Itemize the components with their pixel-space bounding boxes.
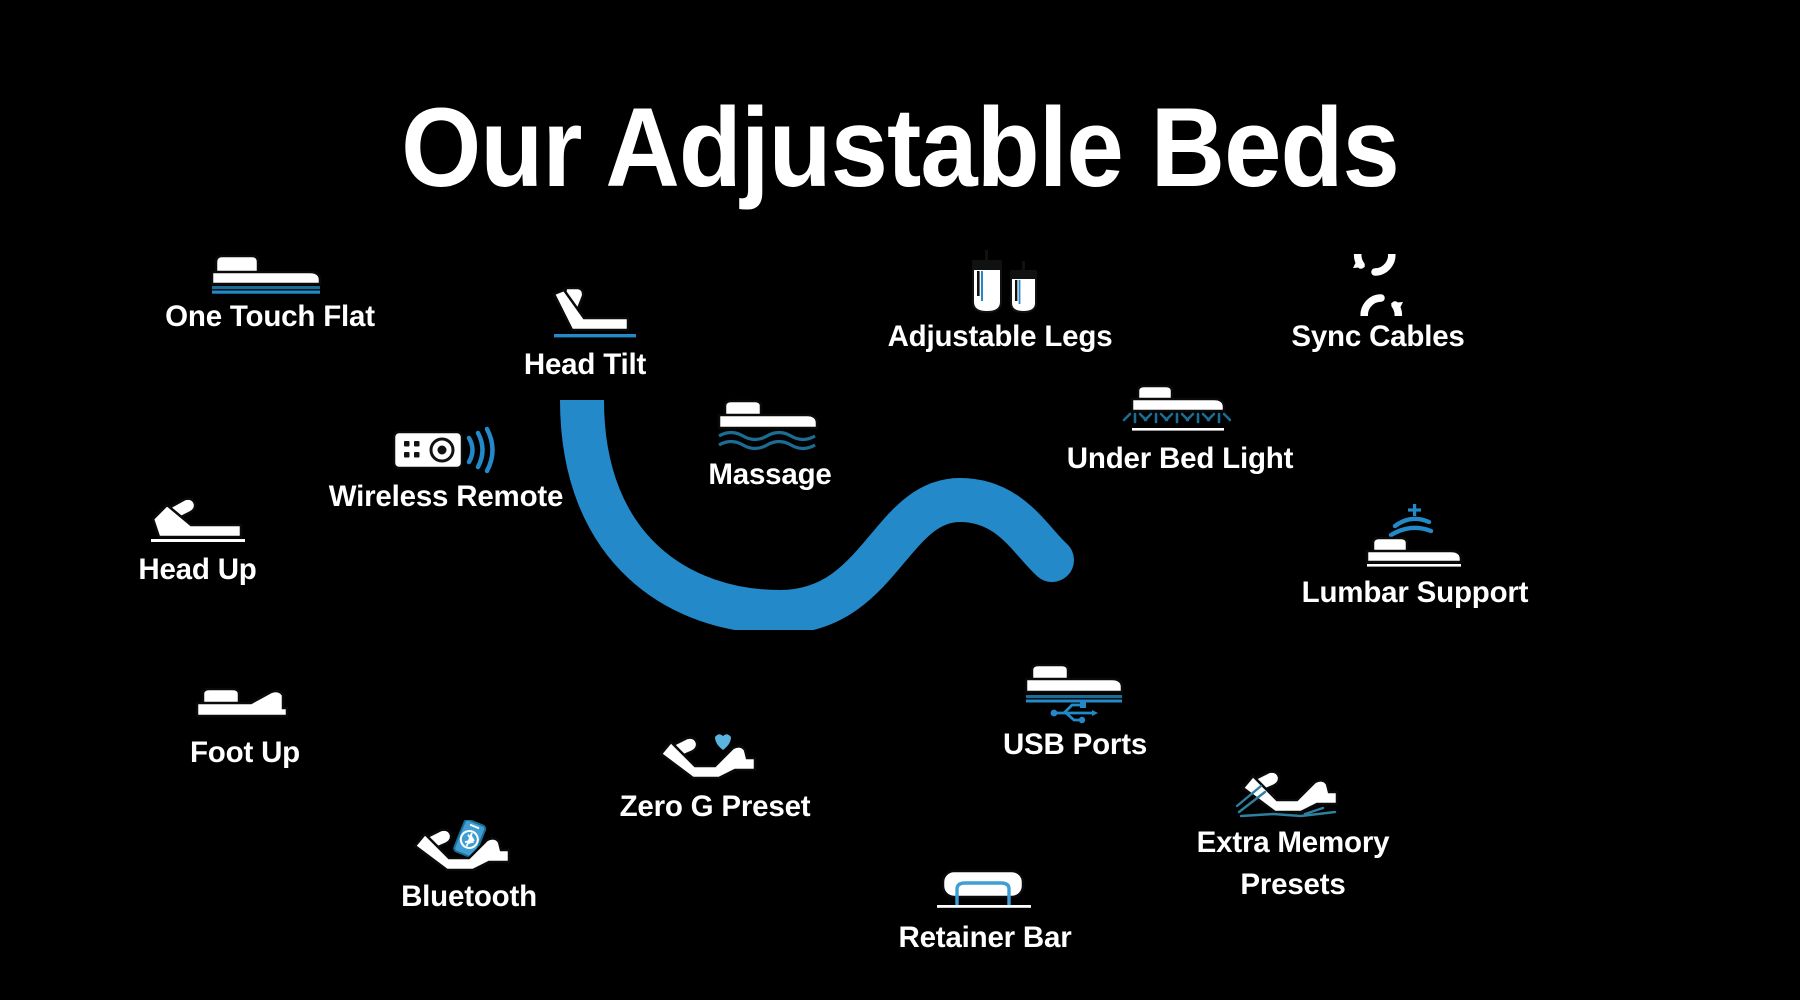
feature-label: Zero G Preset — [600, 786, 830, 828]
feature-label: Head Tilt — [470, 344, 700, 386]
feature-label: Retainer Bar — [870, 917, 1100, 959]
bed-usb-icon — [960, 660, 1190, 724]
feature-usb-ports[interactable]: USB Ports — [960, 660, 1190, 766]
retainer-bar-icon — [870, 865, 1100, 917]
feature-label: USB Ports — [960, 724, 1190, 766]
bed-head-up-icon — [90, 487, 305, 549]
feature-head-tilt[interactable]: Head Tilt — [470, 282, 700, 386]
feature-adjustable-legs[interactable]: Adjustable Legs — [880, 250, 1120, 358]
feature-label: Under Bed Light — [1055, 438, 1305, 480]
feature-label: Bluetooth — [358, 876, 580, 918]
bed-bluetooth-phone-icon — [358, 818, 580, 876]
feature-wireless-remote[interactable]: Wireless Remote — [326, 418, 566, 518]
sync-cables-icon — [1258, 248, 1498, 316]
bed-flat-icon — [150, 238, 390, 296]
bed-massage-waves-icon — [660, 398, 880, 454]
feature-massage[interactable]: Massage — [660, 398, 880, 496]
feature-label: One Touch Flat — [150, 296, 390, 338]
bed-foot-up-icon — [140, 680, 350, 732]
feature-label: Wireless Remote — [326, 476, 566, 518]
feature-sync-cables[interactable]: Sync Cables — [1258, 248, 1498, 358]
feature-zero-g-preset[interactable]: Zero G Preset — [600, 730, 830, 828]
infographic-canvas: Our Adjustable Beds One Touch Flat Head … — [0, 0, 1800, 1000]
feature-under-bed-light[interactable]: Under Bed Light — [1055, 382, 1305, 480]
bed-head-tilt-icon — [470, 282, 700, 344]
wireless-remote-icon — [326, 418, 566, 476]
feature-label: Lumbar Support — [1290, 572, 1540, 614]
feature-label: Extra Memory Presets — [1168, 822, 1418, 906]
feature-retainer-bar[interactable]: Retainer Bar — [870, 865, 1100, 959]
feature-label: Adjustable Legs — [880, 316, 1120, 358]
page-title: Our Adjustable Beds — [72, 92, 1728, 204]
feature-lumbar-support[interactable]: Lumbar Support — [1290, 500, 1540, 614]
adjustable-legs-icon — [880, 250, 1120, 316]
bed-memory-lines-icon — [1168, 762, 1418, 822]
feature-label: Foot Up — [140, 732, 350, 774]
feature-extra-memory-presets[interactable]: Extra Memory Presets — [1168, 762, 1418, 906]
feature-label: Head Up — [90, 549, 305, 591]
bed-underlight-icon — [1055, 382, 1305, 438]
feature-label: Sync Cables — [1258, 316, 1498, 358]
bed-lumbar-waves-icon — [1290, 500, 1540, 572]
feature-bluetooth[interactable]: Bluetooth — [358, 818, 580, 918]
bed-zero-g-heart-icon — [600, 730, 830, 786]
feature-label: Massage — [660, 454, 880, 496]
feature-one-touch-flat[interactable]: One Touch Flat — [150, 238, 390, 338]
feature-head-up[interactable]: Head Up — [90, 487, 305, 591]
feature-foot-up[interactable]: Foot Up — [140, 680, 350, 774]
